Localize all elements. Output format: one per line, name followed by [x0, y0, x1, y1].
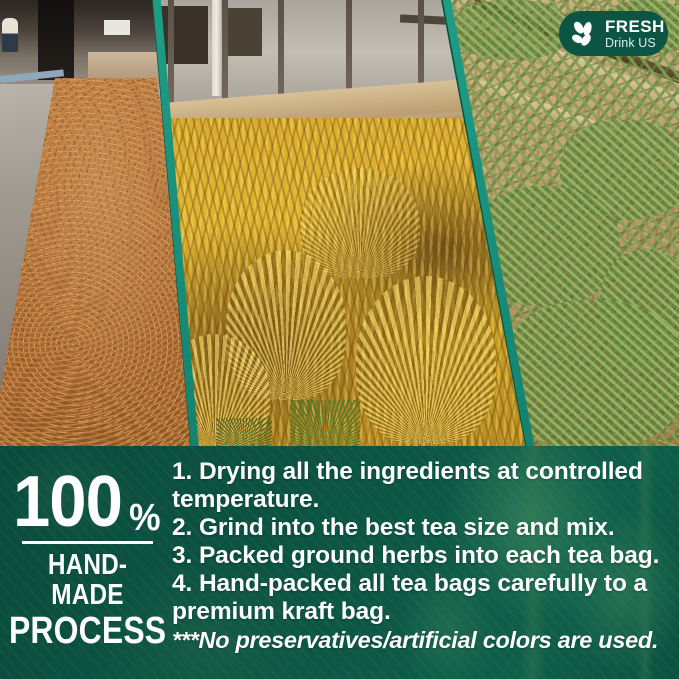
process-step-line: 2. Grind into the best tea size and mix. — [172, 514, 677, 542]
percent-symbol: % — [129, 503, 160, 534]
no-preservatives-note: ***No preservatives/artificial colors ar… — [172, 627, 677, 654]
photo-strip: FRESH Drink US — [0, 0, 679, 446]
brand-tagline: Drink US — [605, 37, 665, 50]
brand-badge[interactable]: FRESH Drink US — [559, 11, 668, 56]
brand-name: FRESH — [605, 18, 665, 35]
wall-sign — [104, 20, 130, 35]
percent-number: 100 — [13, 473, 122, 532]
warehouse-door — [38, 0, 74, 80]
badge-line-1: HAND-MADE — [14, 551, 161, 610]
brand-text: FRESH Drink US — [605, 18, 665, 50]
process-step-line: 4. Hand-packed all tea bags carefully to… — [172, 570, 677, 598]
process-step-line: 3. Packed ground herbs into each tea bag… — [172, 542, 677, 570]
badge-line-2: PROCESS — [9, 612, 166, 652]
process-step-line: 1. Drying all the ingredients at control… — [172, 458, 677, 486]
percent-value: 100 % — [13, 473, 162, 532]
process-steps-list: 1. Drying all the ingredients at control… — [172, 458, 677, 655]
herb-bundle — [356, 276, 496, 444]
green-herb-tuft — [290, 400, 360, 446]
hand-made-badge: 100 % HAND-MADE PROCESS — [0, 446, 175, 679]
vertical-pipe — [212, 0, 221, 96]
process-step-line: premium kraft bag. — [172, 598, 677, 626]
green-herb-tuft — [216, 418, 272, 446]
worker-figure — [2, 18, 18, 52]
product-infographic: FRESH Drink US 100 % HAND-MADE PROCESS 1… — [0, 0, 679, 679]
leaf-cluster — [452, 0, 572, 60]
four-leaf-icon — [568, 19, 598, 49]
process-step-line: temperature. — [172, 486, 677, 514]
